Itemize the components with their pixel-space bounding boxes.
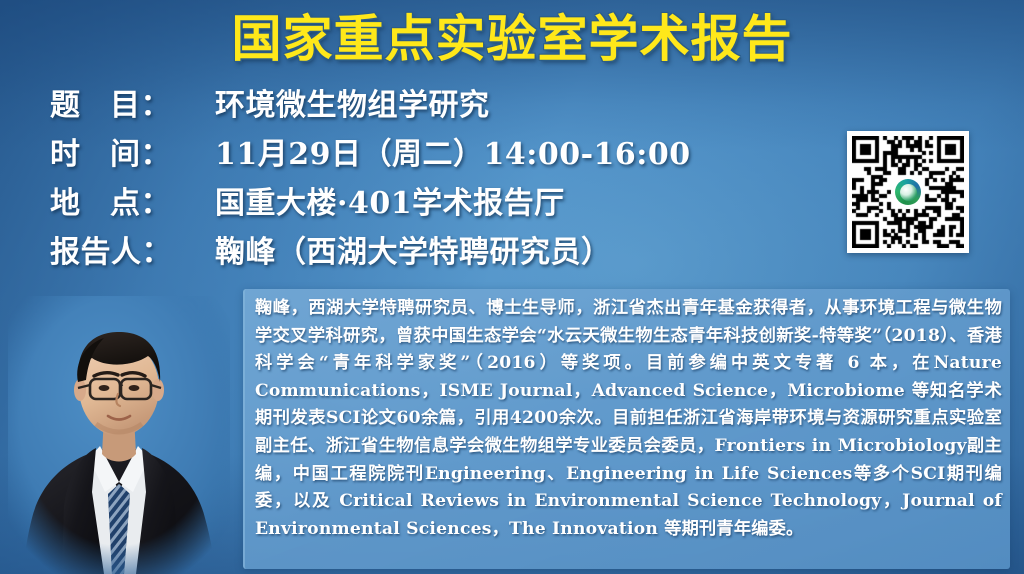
info-label-location: 地点：: [50, 178, 215, 222]
info-value-time: 11月29日（周二）14:00-16:00: [215, 129, 691, 173]
speaker-bio-name: 鞠峰: [255, 298, 291, 318]
info-label-speaker-colon: ：: [142, 235, 173, 270]
info-label-topic-b: 目: [110, 88, 141, 123]
info-value-speaker: 鞠峰（西湖大学特聘研究员）: [215, 227, 612, 271]
info-label-time-b: 间: [110, 137, 141, 172]
qr-code-canvas: [852, 136, 964, 248]
info-label-speaker-a: 报告: [50, 235, 111, 270]
info-label-location-b: 点: [110, 186, 141, 221]
page-title: 国家重点实验室学术报告: [0, 8, 1024, 70]
qr-code[interactable]: [847, 131, 969, 253]
info-row-topic: 题目： 环境微生物组学研究: [50, 80, 810, 129]
info-label-topic-a: 题: [50, 88, 110, 123]
info-label-location-a: 地: [50, 186, 110, 221]
speaker-portrait: [8, 296, 230, 574]
info-value-location: 国重大楼·401学术报告厅: [215, 178, 565, 222]
qr-logo-ring: [895, 179, 921, 205]
speaker-bio-box: 鞠峰，西湖大学特聘研究员、博士生导师，浙江省杰出青年基金获得者，从事环境工程与微…: [243, 289, 1010, 569]
speaker-bio-text: 鞠峰，西湖大学特聘研究员、博士生导师，浙江省杰出青年基金获得者，从事环境工程与微…: [255, 295, 1002, 543]
info-row-location: 地点： 国重大楼·401学术报告厅: [50, 178, 810, 227]
info-row-speaker: 报告人： 鞠峰（西湖大学特聘研究员）: [50, 227, 810, 276]
info-label-time-colon: ：: [141, 137, 172, 172]
info-label-location-colon: ：: [141, 186, 172, 221]
speaker-bio-body: ，西湖大学特聘研究员、博士生导师，浙江省杰出青年基金获得者，从事环境工程与微生物…: [255, 298, 1002, 539]
info-row-time: 时间： 11月29日（周二）14:00-16:00: [50, 129, 810, 178]
info-value-topic: 环境微生物组学研究: [215, 80, 490, 124]
info-label-time: 时间：: [50, 129, 215, 173]
info-label-time-a: 时: [50, 137, 110, 172]
info-label-topic-colon: ：: [141, 88, 172, 123]
info-block: 题目： 环境微生物组学研究 时间： 11月29日（周二）14:00-16:00 …: [50, 80, 810, 276]
info-label-speaker: 报告人：: [50, 227, 215, 271]
qr-logo-inner: [900, 184, 917, 201]
seminar-poster: 国家重点实验室学术报告 题目： 环境微生物组学研究 时间： 11月29日（周二）…: [0, 0, 1024, 574]
info-label-topic: 题目：: [50, 80, 215, 124]
qr-center-logo-icon: [893, 177, 923, 207]
info-label-speaker-b: 人: [111, 235, 142, 270]
